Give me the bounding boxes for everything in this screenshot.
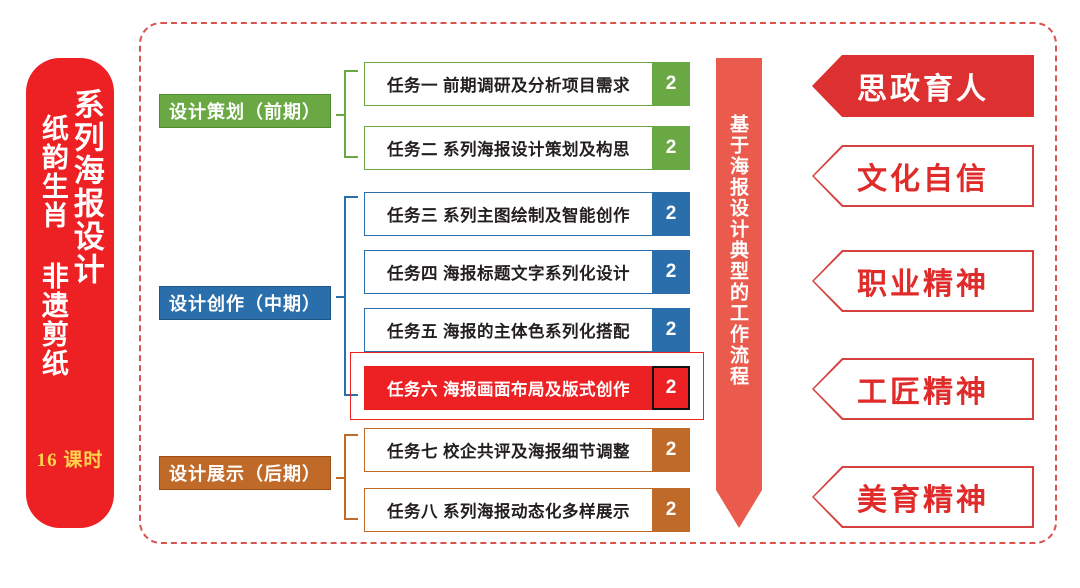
course-hours-label: 16 课时 bbox=[26, 445, 114, 472]
task-row-selected[interactable]: 任务六 海报画面布局及版式创作 2 bbox=[364, 366, 690, 410]
task-label: 任务八 系列海报动态化多样展示 bbox=[364, 488, 652, 532]
phase-label-showcase[interactable]: 设计展示（后期） bbox=[159, 456, 331, 490]
value-chevron-label: 思政育人 bbox=[857, 64, 989, 108]
task-row[interactable]: 任务五 海报的主体色系列化搭配 2 bbox=[364, 308, 690, 352]
task-label: 任务七 校企共评及海报细节调整 bbox=[364, 428, 652, 472]
arrow-head-icon bbox=[716, 490, 762, 528]
value-chevron-label: 美育精神 bbox=[857, 475, 989, 519]
bracket-showcase bbox=[336, 434, 360, 520]
task-row[interactable]: 任务一 前期调研及分析项目需求 2 bbox=[364, 62, 690, 106]
bracket-planning bbox=[336, 70, 360, 158]
task-label: 任务六 海报画面布局及版式创作 bbox=[364, 366, 652, 410]
task-label: 任务一 前期调研及分析项目需求 bbox=[364, 62, 652, 106]
task-label: 任务三 系列主图绘制及智能创作 bbox=[364, 192, 652, 236]
task-label: 任务四 海报标题文字系列化设计 bbox=[364, 250, 652, 294]
workflow-arrow: 基于海报设计典型的工作流程 bbox=[716, 58, 762, 528]
course-structure-diagram: 系列海报设计 纸韵生肖 非遗剪纸 16 课时 设计策划（前期） 设计创作（中期）… bbox=[0, 0, 1080, 588]
value-chevron-culture[interactable]: 文化自信 bbox=[812, 145, 1034, 207]
task-hours-badge: 2 bbox=[652, 62, 690, 106]
task-hours-badge: 2 bbox=[652, 250, 690, 294]
value-chevron-label: 职业精神 bbox=[857, 259, 989, 303]
value-chevron-professional[interactable]: 职业精神 bbox=[812, 250, 1034, 312]
task-hours-badge: 2 bbox=[652, 192, 690, 236]
banner-title-main: 系列海报设计 bbox=[69, 88, 102, 286]
task-row[interactable]: 任务二 系列海报设计策划及构思 2 bbox=[364, 126, 690, 170]
task-hours-badge: 2 bbox=[652, 488, 690, 532]
phase-label-planning[interactable]: 设计策划（前期） bbox=[159, 94, 331, 128]
task-row[interactable]: 任务四 海报标题文字系列化设计 2 bbox=[364, 250, 690, 294]
task-row[interactable]: 任务七 校企共评及海报细节调整 2 bbox=[364, 428, 690, 472]
workflow-arrow-label: 基于海报设计典型的工作流程 bbox=[727, 114, 751, 387]
value-chevron-craftsmanship[interactable]: 工匠精神 bbox=[812, 358, 1034, 420]
task-hours-badge: 2 bbox=[652, 308, 690, 352]
value-chevron-aesthetic[interactable]: 美育精神 bbox=[812, 466, 1034, 528]
task-label: 任务二 系列海报设计策划及构思 bbox=[364, 126, 652, 170]
task-hours-badge: 2 bbox=[652, 366, 690, 410]
value-chevron-label: 工匠精神 bbox=[857, 367, 989, 411]
value-chevron-ideological[interactable]: 思政育人 bbox=[812, 55, 1034, 117]
value-chevron-label: 文化自信 bbox=[857, 154, 989, 198]
task-hours-badge: 2 bbox=[652, 428, 690, 472]
task-label: 任务五 海报的主体色系列化搭配 bbox=[364, 308, 652, 352]
task-row[interactable]: 任务三 系列主图绘制及智能创作 2 bbox=[364, 192, 690, 236]
task-hours-badge: 2 bbox=[652, 126, 690, 170]
task-row[interactable]: 任务八 系列海报动态化多样展示 2 bbox=[364, 488, 690, 532]
course-title-banner: 系列海报设计 纸韵生肖 非遗剪纸 16 课时 bbox=[26, 58, 114, 528]
phase-label-creation[interactable]: 设计创作（中期） bbox=[159, 286, 331, 320]
banner-title-sub: 纸韵生肖 非遗剪纸 bbox=[38, 88, 67, 378]
